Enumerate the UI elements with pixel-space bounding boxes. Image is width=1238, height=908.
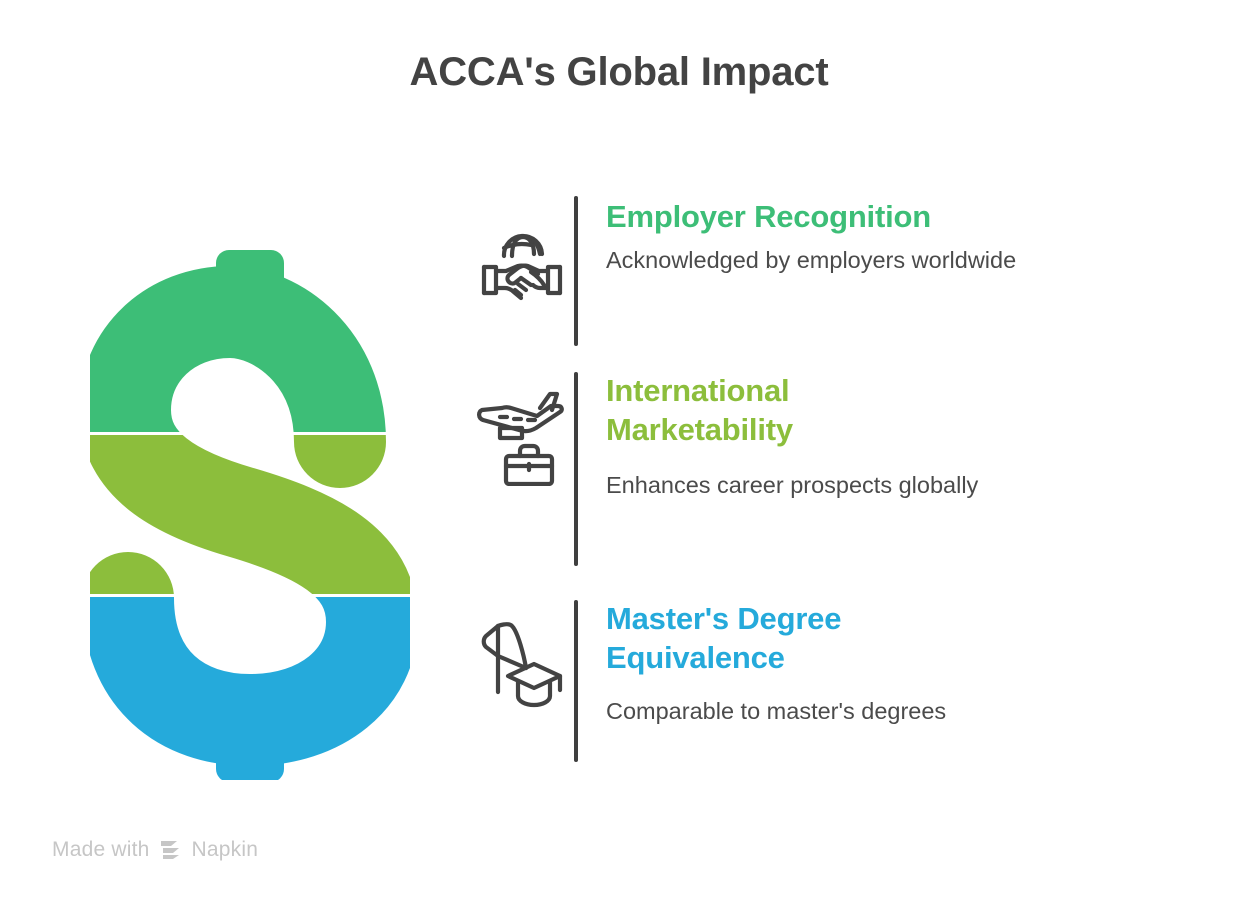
feature-item-international-marketability[interactable]: International Marketability Enhances car… <box>470 372 1210 600</box>
feature-description: Acknowledged by employers worldwide <box>606 245 1210 276</box>
napkin-watermark: Made with Napkin <box>52 838 258 862</box>
flag-graduation-cap-icon <box>470 600 574 710</box>
watermark-prefix: Made with <box>52 838 150 862</box>
feature-divider <box>574 600 578 762</box>
feature-divider <box>574 372 578 566</box>
feature-heading: International Marketability <box>606 372 866 450</box>
dollar-band-middle <box>90 435 410 594</box>
feature-list: Employer Recognition Acknowledged by emp… <box>470 196 1210 790</box>
dollar-band-bottom <box>90 597 410 780</box>
feature-item-masters-degree-equivalence[interactable]: Master's Degree Equivalence Comparable t… <box>470 600 1210 790</box>
watermark-brand: Napkin <box>192 838 259 862</box>
globe-handshake-icon <box>470 196 574 306</box>
feature-heading: Employer Recognition <box>606 198 1210 237</box>
feature-item-employer-recognition[interactable]: Employer Recognition Acknowledged by emp… <box>470 196 1210 372</box>
feature-text: International Marketability Enhances car… <box>606 372 1210 501</box>
feature-text: Employer Recognition Acknowledged by emp… <box>606 196 1210 276</box>
feature-divider <box>574 196 578 346</box>
page-title: ACCA's Global Impact <box>0 50 1238 95</box>
feature-description: Comparable to master's degrees <box>606 696 1210 727</box>
dollar-sign-graphic <box>90 250 410 780</box>
feature-text: Master's Degree Equivalence Comparable t… <box>606 600 1210 727</box>
airplane-briefcase-icon <box>470 372 574 486</box>
napkin-logo-icon <box>159 840 183 860</box>
feature-description: Enhances career prospects globally <box>606 470 986 501</box>
dollar-band-top <box>90 250 410 432</box>
feature-heading: Master's Degree Equivalence <box>606 600 906 678</box>
